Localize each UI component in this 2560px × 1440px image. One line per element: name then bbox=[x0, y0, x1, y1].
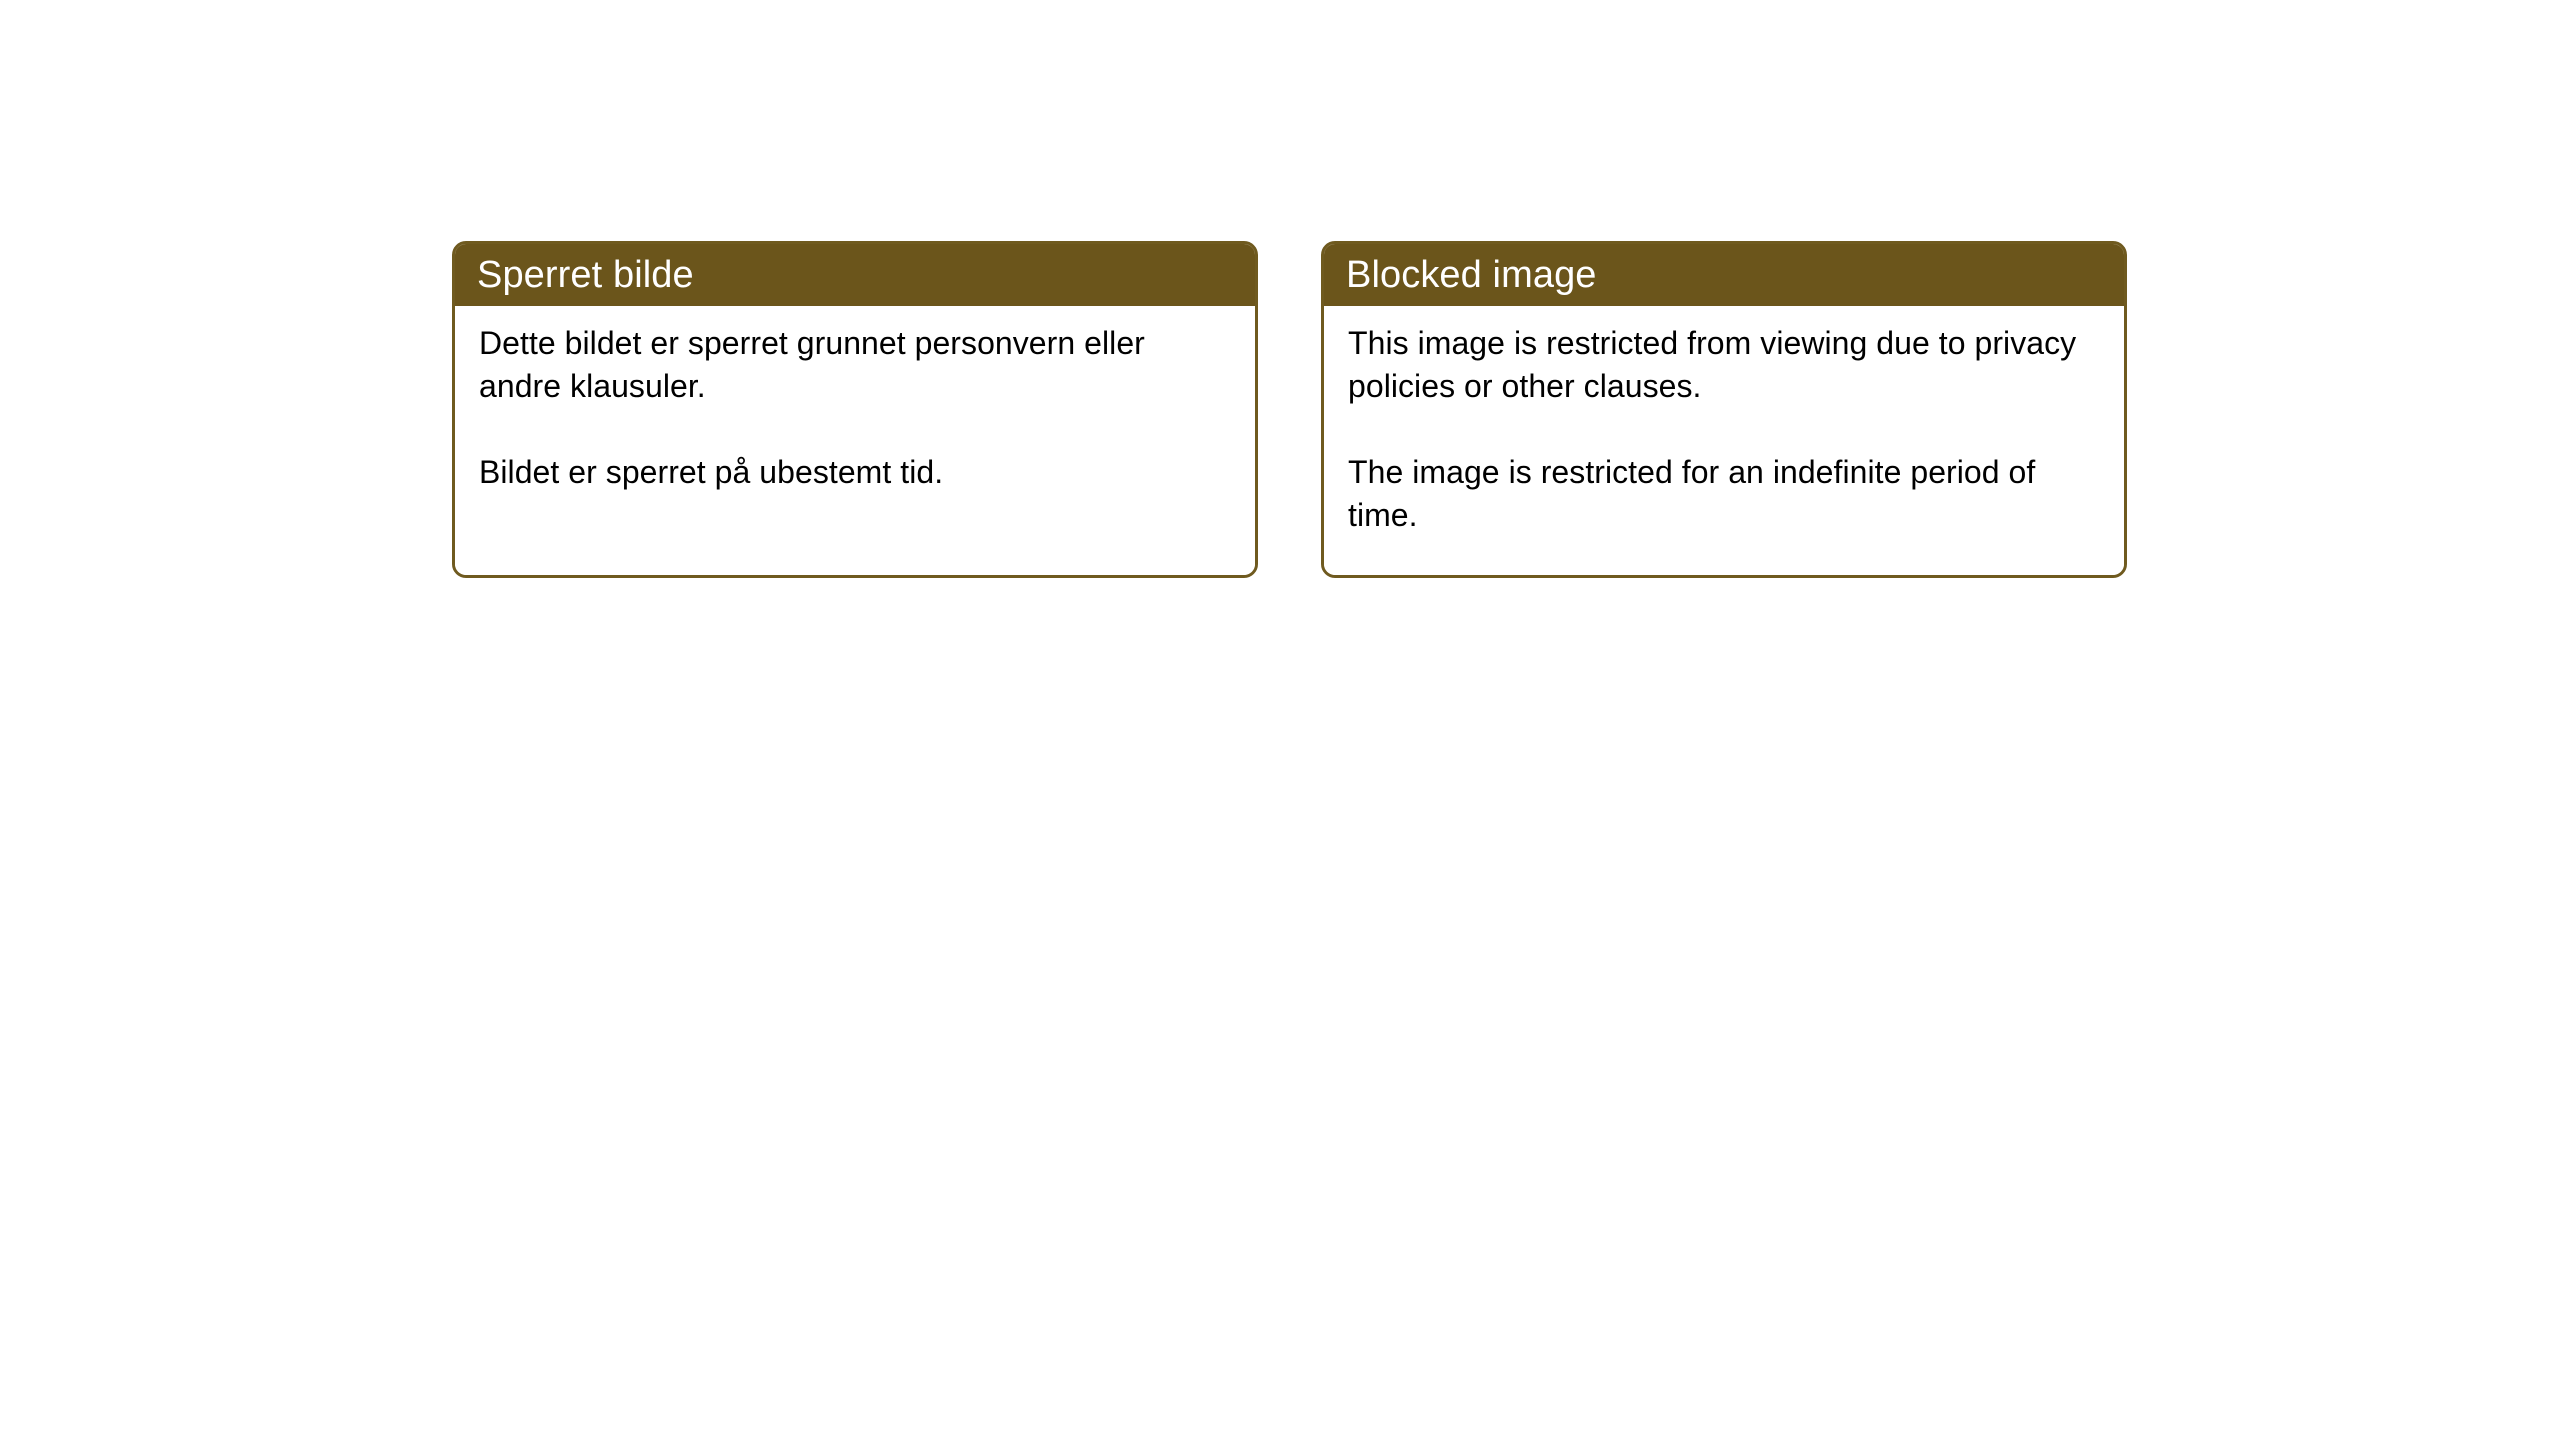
card-body-norwegian: Dette bildet er sperret grunnet personve… bbox=[455, 306, 1255, 575]
card-title-english: Blocked image bbox=[1346, 256, 1597, 294]
card-paragraph-secondary-english: The image is restricted for an indefinit… bbox=[1348, 451, 2088, 537]
card-body-english: This image is restricted from viewing du… bbox=[1324, 306, 2124, 575]
card-header-norwegian: Sperret bilde bbox=[455, 244, 1255, 306]
blocked-image-card-english: Blocked image This image is restricted f… bbox=[1321, 241, 2127, 578]
card-paragraph-primary-norwegian: Dette bildet er sperret grunnet personve… bbox=[479, 322, 1179, 408]
card-paragraph-secondary-norwegian: Bildet er sperret på ubestemt tid. bbox=[479, 451, 1179, 494]
card-title-norwegian: Sperret bilde bbox=[477, 256, 694, 294]
blocked-image-notice-area: Sperret bilde Dette bildet er sperret gr… bbox=[452, 241, 2127, 578]
blocked-image-card-norwegian: Sperret bilde Dette bildet er sperret gr… bbox=[452, 241, 1258, 578]
card-header-english: Blocked image bbox=[1324, 244, 2124, 306]
card-paragraph-primary-english: This image is restricted from viewing du… bbox=[1348, 322, 2088, 408]
